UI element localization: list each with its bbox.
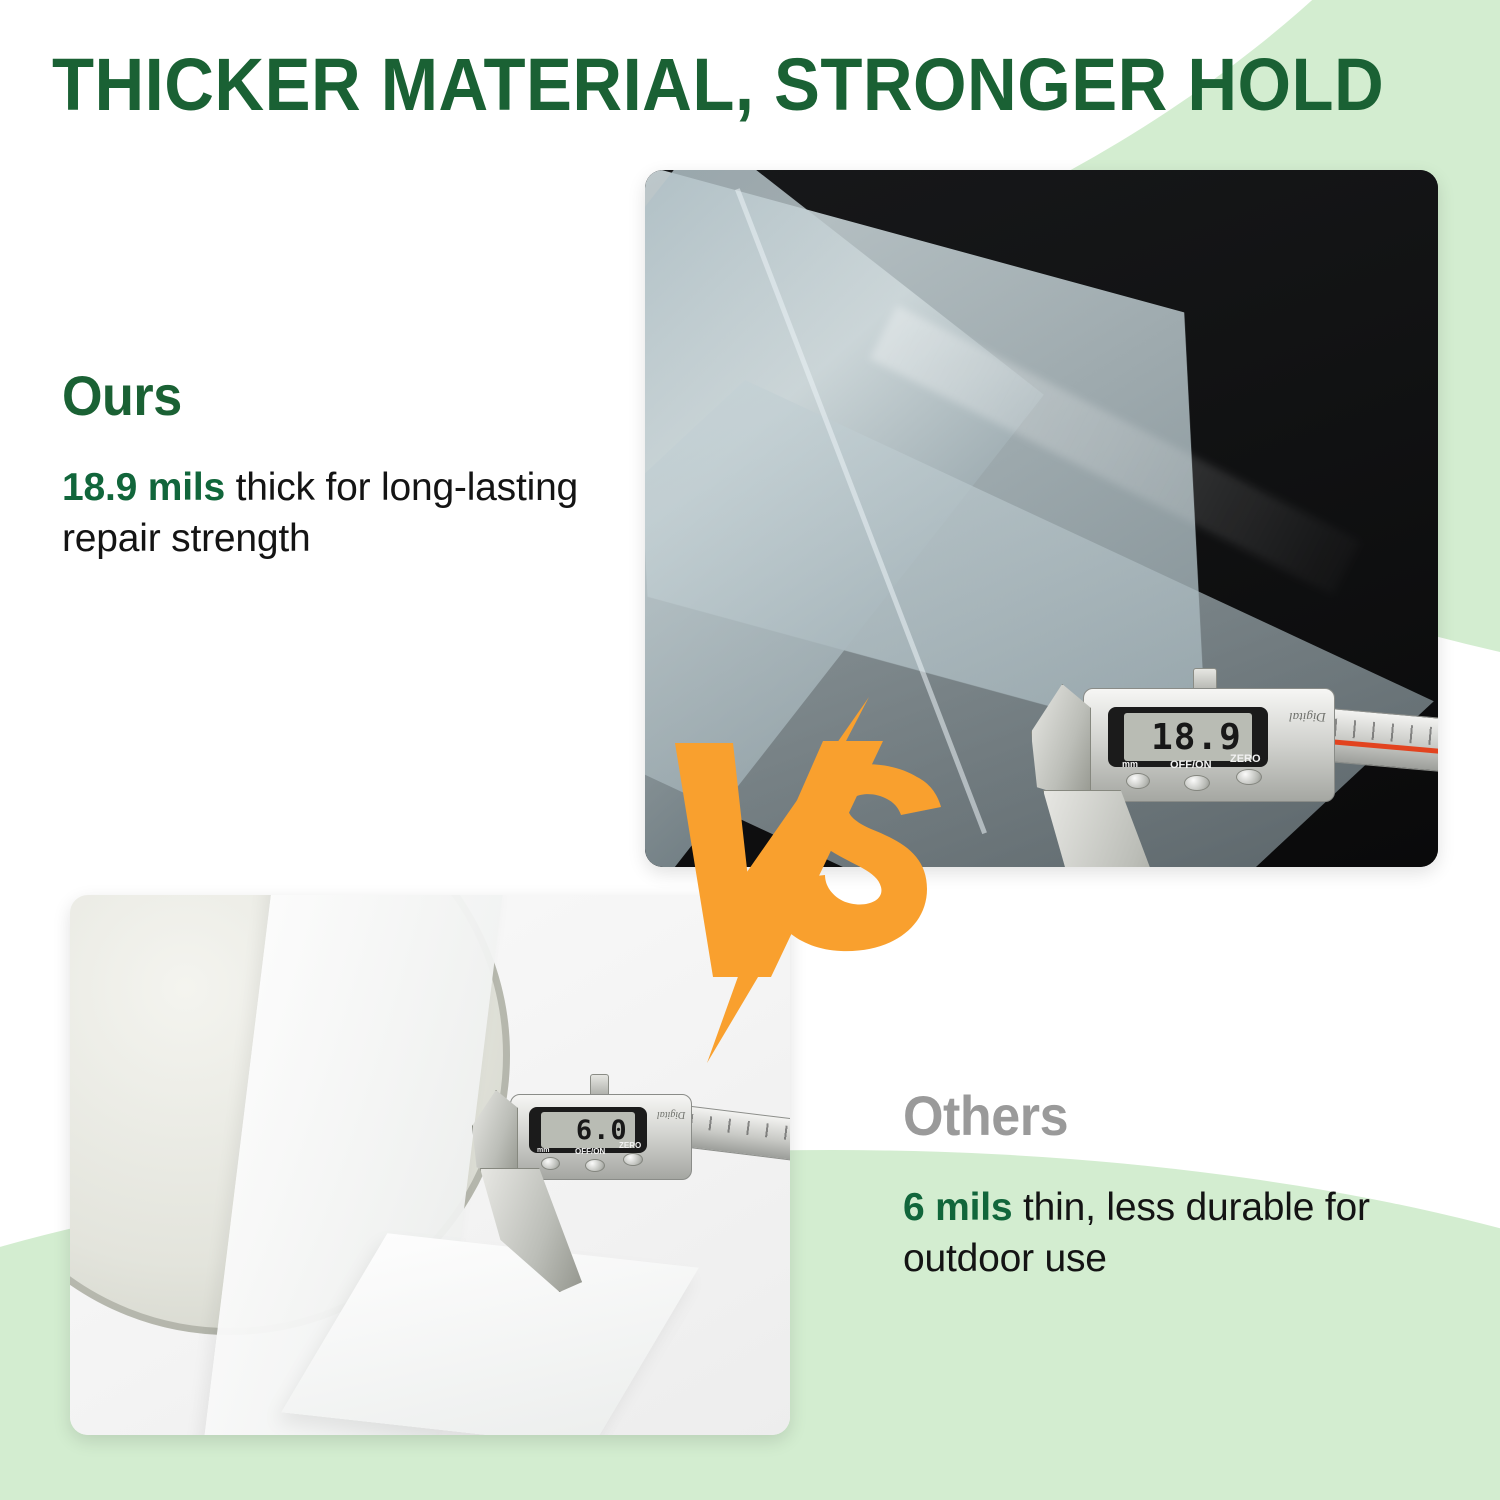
caliper-label-zero: ZERO [1230,753,1261,765]
caliper-label-onoff: OFF/ON [1170,759,1212,771]
caliper-label-onoff: OFF/ON [575,1147,605,1156]
highlight-others-thickness: 6 mils [903,1186,1012,1229]
caliper-reading-ours: 18.9 [1151,717,1252,758]
page-title: THICKER MATERIAL, STRONGER HOLD [52,48,1373,122]
caliper-lower-jaw [480,1168,582,1292]
caliper-button-mm [1126,773,1150,789]
description-others: 6 mils thin, less durable for outdoor us… [903,1182,1443,1285]
caliper-brand-mark: Digital [1289,709,1326,725]
photo-card-ours: Digital 18.9 mm OFF/ON ZERO [645,170,1438,867]
highlight-ours-thickness: 18.9 mils [62,466,225,509]
caliper-button-onoff [1184,775,1210,791]
caliper-label-mm: mm [537,1147,549,1154]
caliper-button-zero [1236,769,1262,785]
caliper-label-mm: mm [1122,759,1138,769]
caliper-button-onoff [585,1159,605,1172]
caliper-label-zero: ZERO [619,1141,641,1150]
text-block-others: Others 6 mils thin, less durable for out… [903,1088,1443,1285]
photo-card-others: Digital 6.0 mm OFF/ON ZERO [70,895,790,1435]
text-block-ours: Ours 18.9 mils thick for long-lasting re… [62,368,642,565]
caliper-body: Digital 6.0 mm OFF/ON ZERO [510,1094,692,1180]
label-ours: Ours [62,368,601,424]
caliper-button-mm [541,1157,560,1170]
caliper-upper-jaw [1031,684,1091,804]
digital-caliper-others: Digital 6.0 mm OFF/ON ZERO [470,1080,770,1325]
label-others: Others [903,1088,1405,1144]
infographic-canvas: THICKER MATERIAL, STRONGER HOLD Digital … [0,0,1500,1500]
description-ours: 18.9 mils thick for long-lasting repair … [62,462,642,565]
caliper-button-zero [623,1153,643,1166]
digital-caliper-ours: Digital 18.9 mm OFF/ON ZERO [1025,670,1438,867]
caliper-upper-jaw [472,1090,518,1180]
caliper-brand-mark: Digital [657,1109,685,1120]
caliper-body: Digital 18.9 mm OFF/ON ZERO [1083,688,1335,802]
